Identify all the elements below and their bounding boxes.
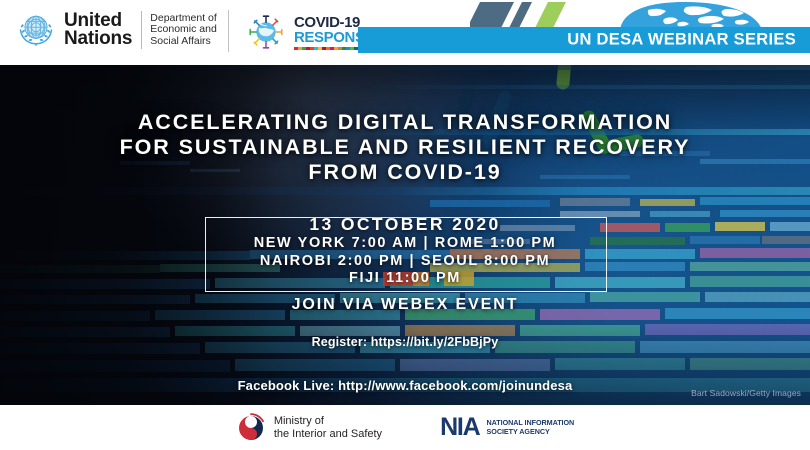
- fiji-value: 11:00 PM: [386, 270, 461, 286]
- covid-19-response-logo: COVID-19 RESPONSE: [243, 9, 374, 55]
- nia-subtitle: NATIONAL INFORMATION SOCIETY AGENCY: [487, 419, 575, 436]
- header-bar: United Nations Department of Economic an…: [0, 0, 810, 65]
- mois-name: Ministry of the Interior and Safety: [274, 415, 382, 441]
- department-line-3: Social Affairs: [150, 36, 217, 48]
- un-name-line-2: Nations: [64, 30, 132, 48]
- times-line-3: FIJI 11:00 PM: [0, 270, 810, 288]
- facebook-live-link[interactable]: Facebook Live: http://www.facebook.com/j…: [0, 378, 810, 393]
- covid-19-response-globe-icon: [243, 9, 289, 55]
- title-line-2: FOR SUSTAINABLE AND RESILIENT RECOVERY: [0, 135, 810, 160]
- poster-content: ACCELERATING DIGITAL TRANSFORMATION FOR …: [0, 65, 810, 405]
- un-desa-logo: United Nations Department of Economic an…: [14, 8, 217, 52]
- title-line-3: FROM COVID-19: [0, 160, 810, 185]
- header-separator: [228, 10, 229, 52]
- register-link[interactable]: Register: https://bit.ly/2FbBjPy: [0, 335, 810, 349]
- banner-label: UN DESA WEBINAR SERIES: [567, 31, 796, 50]
- un-emblem-icon: [14, 8, 58, 52]
- nia-logo: NIA NATIONAL INFORMATION SOCIETY AGENCY: [440, 415, 574, 440]
- title-line-1: ACCELERATING DIGITAL TRANSFORMATION: [0, 110, 810, 135]
- date-time-info: 13 OCTOBER 2020 NEW YORK 7:00 AM | ROME …: [0, 214, 810, 288]
- korea-taegeuk-icon: [236, 413, 266, 443]
- mois-line-1: Ministry of: [274, 415, 382, 428]
- logo-divider: [141, 11, 142, 49]
- fiji-time: FIJI 11:00 PM: [349, 270, 461, 288]
- department-name: Department of Economic and Social Affair…: [150, 13, 217, 48]
- webinar-series-banner: UN DESA WEBINAR SERIES: [358, 27, 810, 53]
- times-line-2: NAIROBI 2:00 PM | SEOUL 8:00 PM: [0, 253, 810, 271]
- event-date: 13 OCTOBER 2020: [0, 214, 810, 235]
- photo-credit: Bart Sadowski/Getty Images: [691, 388, 801, 398]
- webinar-poster: United Nations Department of Economic an…: [0, 0, 810, 450]
- un-wordmark: United Nations: [64, 12, 132, 48]
- mois-logo: Ministry of the Interior and Safety: [236, 413, 382, 443]
- mois-line-2: the Interior and Safety: [274, 428, 382, 441]
- sdg-color-bar: [294, 47, 362, 50]
- join-webex-label: JOIN VIA WEBEX EVENT: [0, 296, 810, 314]
- nia-sub-line-2: SOCIETY AGENCY: [487, 428, 575, 437]
- page-title: ACCELERATING DIGITAL TRANSFORMATION FOR …: [0, 110, 810, 185]
- nia-wordmark: NIA: [440, 415, 479, 440]
- fiji-label: FIJI: [349, 270, 380, 286]
- footer-bar: Ministry of the Interior and Safety NIA …: [0, 405, 810, 450]
- times-line-1: NEW YORK 7:00 AM | ROME 1:00 PM: [0, 235, 810, 253]
